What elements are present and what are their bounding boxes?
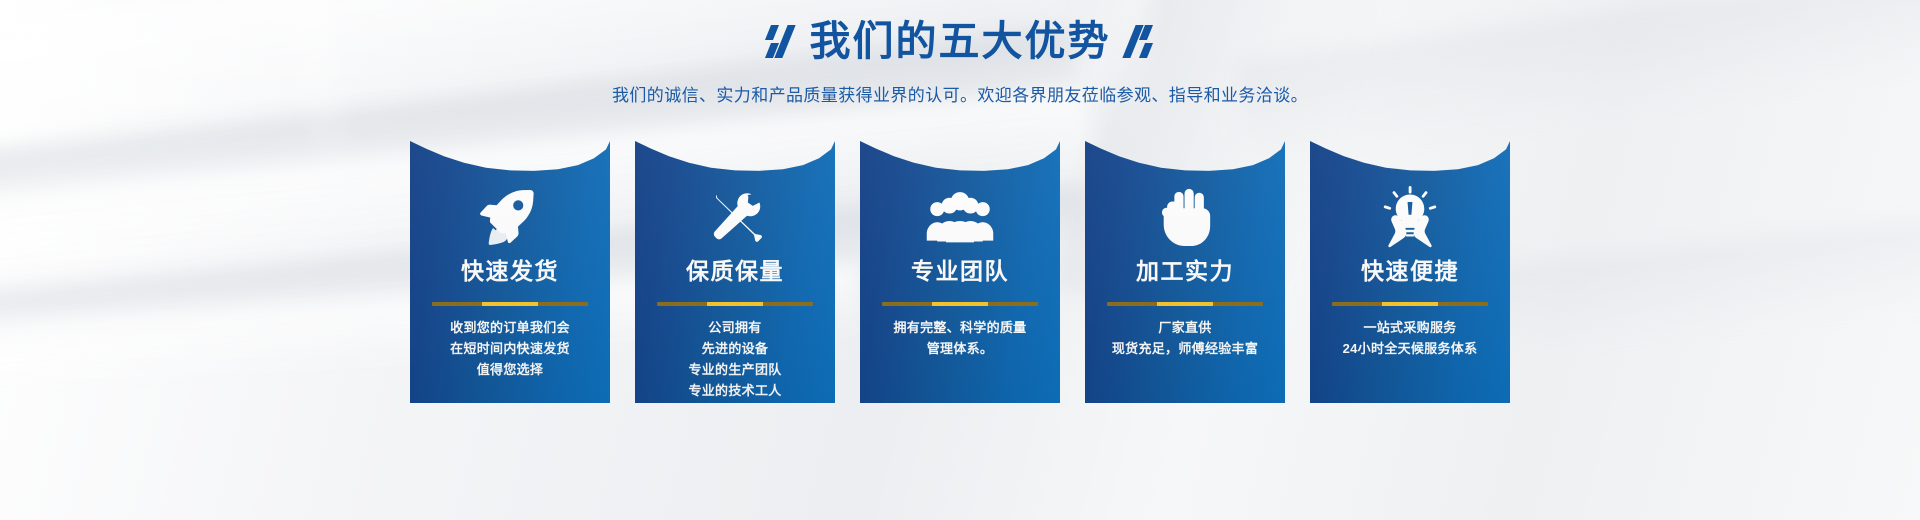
card-divider [882, 302, 1038, 306]
card-description-line: 厂家直供 [1089, 317, 1281, 338]
card-description-line: 值得您选择 [414, 359, 606, 380]
card-description-line: 收到您的订单我们会 [414, 317, 606, 338]
card-title: 快速发货 [410, 259, 610, 284]
card-description-line: 一站式采购服务 [1314, 317, 1506, 338]
double-slash-icon [766, 24, 792, 58]
card-description-line: 现货充足，师傅经验丰富 [1089, 338, 1281, 359]
card-title: 快速便捷 [1310, 259, 1510, 284]
advantage-card[interactable]: 快速便捷 一站式采购服务 24小时全天候服务体系 [1310, 141, 1510, 403]
title-row: 我们的五大优势 [0, 14, 1920, 68]
card-description: 拥有完整、科学的质量 管理体系。 [864, 317, 1056, 359]
card-description: 一站式采购服务 24小时全天候服务体系 [1314, 317, 1506, 359]
card-title: 保质保量 [635, 259, 835, 284]
rocket-icon [410, 183, 610, 251]
card-description-line: 管理体系。 [864, 338, 1056, 359]
card-description-line: 专业的生产团队 [639, 359, 831, 380]
card-description-line: 24小时全天候服务体系 [1314, 338, 1506, 359]
hands-lightbulb-icon [1310, 183, 1510, 251]
card-description-line: 先进的设备 [639, 338, 831, 359]
card-description-line: 公司拥有 [639, 317, 831, 338]
card-title: 加工实力 [1085, 259, 1285, 284]
card-description-line: 在短时间内快速发货 [414, 338, 606, 359]
advantages-banner: 我们的五大优势 我们的诚信、实力和产品质量获得业界的认可。欢迎各界朋友莅临参观、… [0, 0, 1920, 520]
card-description-line: 专业的技术工人 [639, 380, 831, 401]
section-subtitle: 我们的诚信、实力和产品质量获得业界的认可。欢迎各界朋友莅临参观、指导和业务洽谈。 [0, 81, 1920, 106]
page-title: 我们的五大优势 [810, 21, 1111, 62]
team-people-icon [860, 183, 1060, 251]
advantage-card-list: 快速发货 收到您的订单我们会 在短时间内快速发货 值得您选择 [0, 141, 1920, 403]
advantage-card[interactable]: 快速发货 收到您的订单我们会 在短时间内快速发货 值得您选择 [410, 141, 610, 403]
tools-wrench-screwdriver-icon [635, 183, 835, 251]
card-divider [657, 302, 813, 306]
card-description-line: 拥有完整、科学的质量 [864, 317, 1056, 338]
card-description: 收到您的订单我们会 在短时间内快速发货 值得您选择 [414, 317, 606, 380]
card-description: 厂家直供 现货充足，师傅经验丰富 [1089, 317, 1281, 359]
section-header: 我们的五大优势 我们的诚信、实力和产品质量获得业界的认可。欢迎各界朋友莅临参观、… [0, 14, 1920, 106]
card-description: 公司拥有 先进的设备 专业的生产团队 专业的技术工人 [639, 317, 831, 401]
card-divider [1107, 302, 1263, 306]
advantage-card[interactable]: 保质保量 公司拥有 先进的设备 专业的生产团队 专业的技术工人 [635, 141, 835, 403]
card-divider [1332, 302, 1488, 306]
advantage-card[interactable]: 加工实力 厂家直供 现货充足，师傅经验丰富 [1085, 141, 1285, 403]
advantage-card[interactable]: 专业团队 拥有完整、科学的质量 管理体系。 [860, 141, 1060, 403]
fist-icon [1085, 183, 1285, 251]
double-slash-icon [1129, 24, 1155, 58]
card-divider [432, 302, 588, 306]
card-title: 专业团队 [860, 259, 1060, 284]
